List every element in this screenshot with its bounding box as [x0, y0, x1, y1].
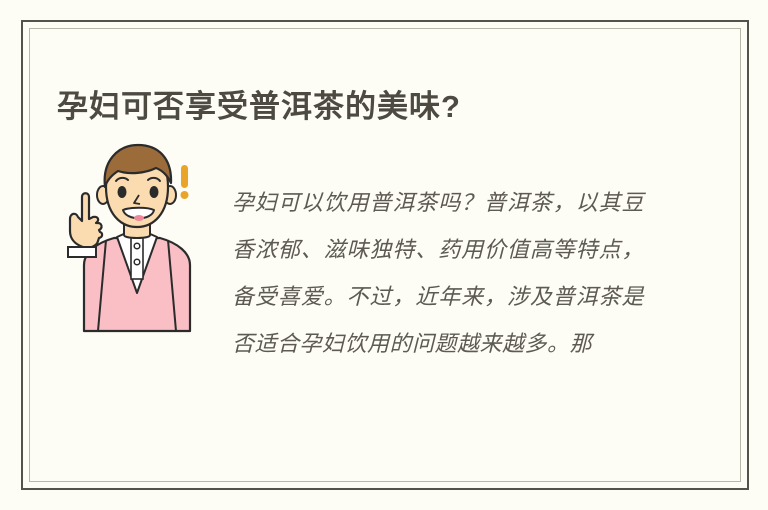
article-card-page: 孕妇可否享受普洱茶的美味?	[0, 0, 768, 510]
exclamation-icon	[181, 165, 189, 199]
article-body-text: 孕妇可以饮用普洱茶吗？普洱茶，以其豆香浓郁、滋味独特、药用价值高等特点，备受喜爱…	[232, 180, 644, 368]
man-pointing-up-icon	[60, 143, 212, 333]
page-title: 孕妇可否享受普洱茶的美味?	[57, 87, 697, 127]
